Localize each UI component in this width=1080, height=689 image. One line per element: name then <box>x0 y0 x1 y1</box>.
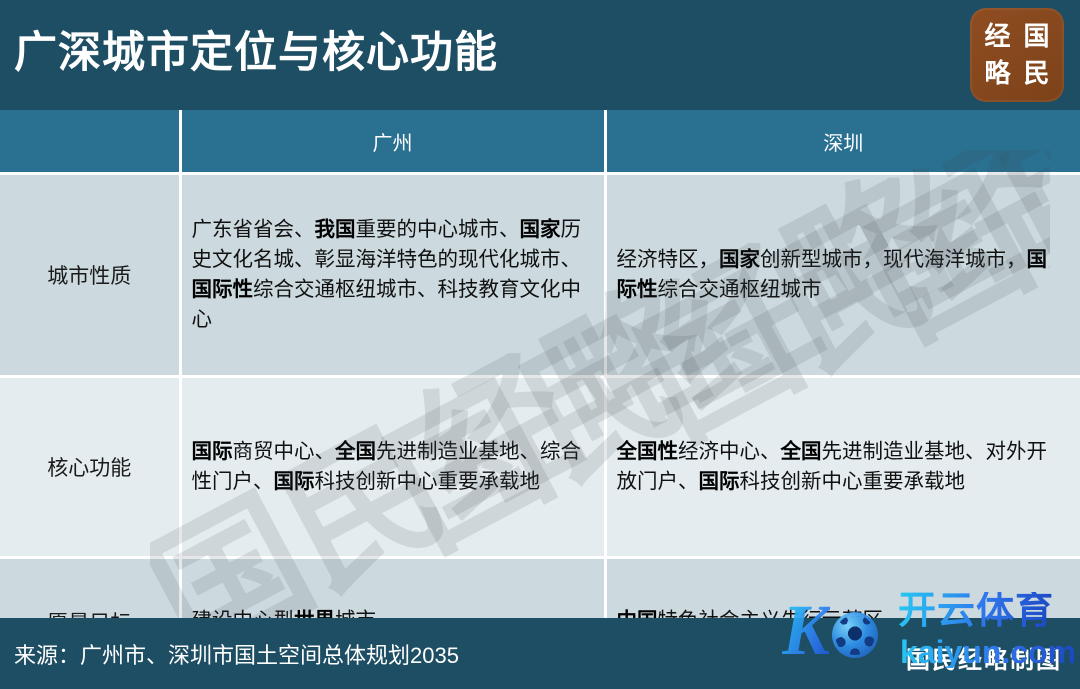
table-header-blank <box>0 110 180 174</box>
brand-badge: 经 国 略 民 <box>970 8 1064 102</box>
table-body: 城市性质 广东省省会、我国重要的中心城市、国家历史文化名城、彰显海洋特色的现代化… <box>0 174 1080 686</box>
comparison-table: 广州 深圳 城市性质 广东省省会、我国重要的中心城市、国家历史文化名城、彰显海洋… <box>0 110 1080 687</box>
table-row: 城市性质 广东省省会、我国重要的中心城市、国家历史文化名城、彰显海洋特色的现代化… <box>0 174 1080 377</box>
cell-guangzhou-city-nature: 广东省省会、我国重要的中心城市、国家历史文化名城、彰显海洋特色的现代化城市、国际… <box>180 174 605 377</box>
cell-shenzhen-core-function: 全国性经济中心、全国先进制造业基地、对外开放门户、国际科技创新中心重要承载地 <box>605 377 1080 558</box>
cell-guangzhou-core-function: 国际商贸中心、全国先进制造业基地、综合性门户、国际科技创新中心重要承载地 <box>180 377 605 558</box>
table-header-shenzhen: 深圳 <box>605 110 1080 174</box>
credit-note: 国民经略制图 <box>906 640 1062 675</box>
brand-char-1: 经 <box>984 24 1010 50</box>
source-note: 来源：广州市、深圳市国土空间总体规划2035 <box>14 638 459 670</box>
table-row: 核心功能 国际商贸中心、全国先进制造业基地、综合性门户、国际科技创新中心重要承载… <box>0 377 1080 558</box>
table-header-row: 广州 深圳 <box>0 110 1080 174</box>
title-band: 广深城市定位与核心功能 经 国 略 民 <box>0 0 1080 110</box>
row-label-city-nature: 城市性质 <box>0 174 180 377</box>
brand-char-2: 国 <box>1023 24 1049 50</box>
brand-char-3: 略 <box>984 61 1010 87</box>
cell-shenzhen-city-nature: 经济特区，国家创新型城市，现代海洋城市，国际性综合交通枢纽城市 <box>605 174 1080 377</box>
table-header-guangzhou: 广州 <box>180 110 605 174</box>
comparison-table-wrap: 广州 深圳 城市性质 广东省省会、我国重要的中心城市、国家历史文化名城、彰显海洋… <box>0 110 1080 618</box>
row-label-core-function: 核心功能 <box>0 377 180 558</box>
page-title: 广深城市定位与核心功能 <box>14 18 498 80</box>
brand-char-4: 民 <box>1023 61 1049 87</box>
infographic-page: 广深城市定位与核心功能 经 国 略 民 广州 深圳 城市性质 <box>0 0 1080 689</box>
footer-band: 来源：广州市、深圳市国土空间总体规划2035 国民经略制图 <box>0 618 1080 689</box>
